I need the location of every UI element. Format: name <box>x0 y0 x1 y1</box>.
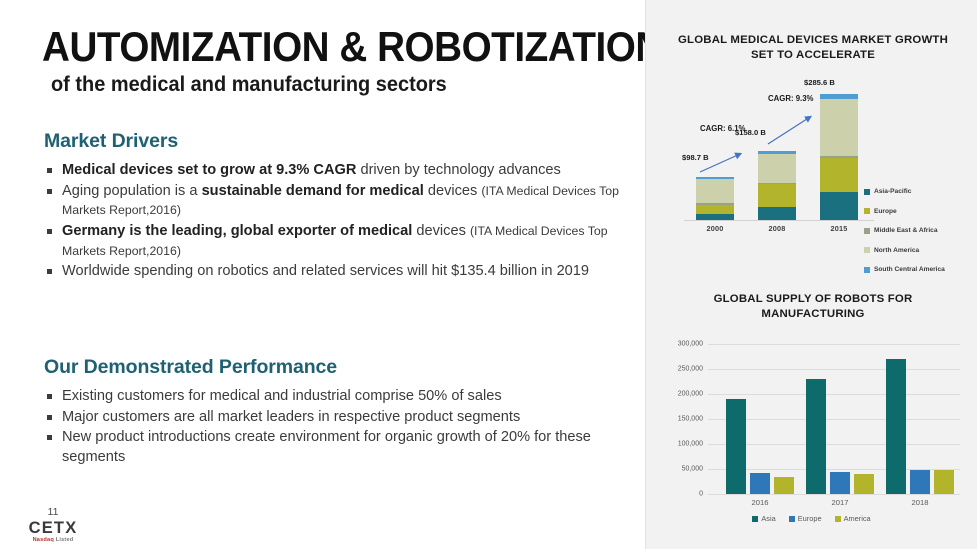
bar-america <box>854 474 874 494</box>
logo-subtitle: Nasdaq Listed <box>8 537 98 543</box>
legend-swatch <box>864 208 870 214</box>
legend-item: Asia <box>752 514 775 523</box>
bar-europe <box>830 472 850 495</box>
chart2-gridline: 0 <box>708 494 960 495</box>
legend-item: North America <box>864 247 976 254</box>
chart1-legend: Asia-PacificEuropeMiddle East & AfricaNo… <box>864 188 976 286</box>
legend-label: America <box>844 514 871 523</box>
chart-robot-supply: 050,000100,000150,000200,000250,000300,0… <box>646 336 977 536</box>
bullet-bold-lead: Medical devices set to grow at 9.3% CAGR <box>62 162 356 178</box>
list-item: New product introductions create environ… <box>44 428 624 467</box>
bullet-text: Existing customers for medical and indus… <box>62 388 502 404</box>
legend-label: Europe <box>874 208 897 215</box>
company-logo: CETX <box>8 519 98 538</box>
logo-subtitle-listed: Listed <box>54 537 73 543</box>
chart2-y-tick: 150,000 <box>678 416 703 423</box>
legend-swatch <box>789 516 795 522</box>
legend-label: Middle East & Africa <box>874 227 938 234</box>
bullet-text: devices <box>424 183 482 199</box>
list-item: Medical devices set to grow at 9.3% CAGR… <box>44 161 624 181</box>
chart2-x-label: 2016 <box>720 498 800 507</box>
bullet-text: Major customers are all market leaders i… <box>62 409 520 425</box>
legend-swatch <box>864 228 870 234</box>
legend-label: North America <box>874 247 919 254</box>
bullet-list-performance: Existing customers for medical and indus… <box>44 387 624 468</box>
bar-asia <box>886 359 906 494</box>
logo-subtitle-nasdaq: Nasdaq <box>33 537 54 543</box>
list-item: Aging population is a sustainable demand… <box>44 182 624 221</box>
bar-europe <box>910 470 930 494</box>
page-title: AUTOMIZATION & ROBOTIZATION <box>42 26 594 68</box>
bar-group <box>886 344 954 494</box>
bar-asia <box>726 399 746 494</box>
legend-item: America <box>835 514 871 523</box>
bar-group <box>806 344 874 494</box>
legend-swatch <box>864 267 870 273</box>
bar-asia <box>806 379 826 494</box>
bullet-text: driven by technology advances <box>356 162 560 178</box>
list-item: Major customers are all market leaders i… <box>44 408 624 428</box>
bar-america <box>774 477 794 495</box>
chart1-value-label: $285.6 B <box>804 78 835 87</box>
bar-europe <box>750 473 770 494</box>
chart2-y-tick: 0 <box>699 491 703 498</box>
section-demonstrated-performance: Our Demonstrated Performance Existing cu… <box>44 356 624 469</box>
page-subtitle: of the medical and manufacturing sectors <box>51 73 612 97</box>
section-market-drivers: Market Drivers Medical devices set to gr… <box>44 130 624 283</box>
legend-label: Europe <box>798 514 822 523</box>
chart2-legend: AsiaEuropeAmerica <box>646 514 977 523</box>
left-content-panel: AUTOMIZATION & ROBOTIZATION of the medic… <box>0 0 645 549</box>
title-block: AUTOMIZATION & ROBOTIZATION of the medic… <box>42 26 642 97</box>
chart-title-robot-supply: GLOBAL SUPPLY OF ROBOTS FOR MANUFACTURIN… <box>668 292 958 321</box>
bullet-list-market-drivers: Medical devices set to grow at 9.3% CAGR… <box>44 161 624 282</box>
chart2-y-tick: 200,000 <box>678 391 703 398</box>
chart1-growth-arrows <box>684 88 884 228</box>
legend-label: Asia <box>761 514 775 523</box>
bullet-text: New product introductions create environ… <box>62 429 591 465</box>
legend-label: South Central America <box>874 266 945 273</box>
slide: AUTOMIZATION & ROBOTIZATION of the medic… <box>0 0 977 549</box>
bullet-bold-mid: sustainable demand for medical <box>202 183 424 199</box>
right-charts-panel: GLOBAL MEDICAL DEVICES MARKET GROWTH SET… <box>646 0 977 549</box>
section-heading-market-drivers: Market Drivers <box>44 130 624 153</box>
bullet-bold-lead: Germany is the leading, global exporter … <box>62 223 412 239</box>
legend-item: Middle East & Africa <box>864 227 976 234</box>
chart2-x-label: 2017 <box>800 498 880 507</box>
bar-america <box>934 470 954 495</box>
legend-swatch <box>864 247 870 253</box>
legend-label: Asia-Pacific <box>874 188 911 195</box>
section-heading-performance: Our Demonstrated Performance <box>44 356 624 379</box>
list-item: Worldwide spending on robotics and relat… <box>44 262 624 282</box>
legend-item: South Central America <box>864 266 976 273</box>
chart2-plot-area: 050,000100,000150,000200,000250,000300,0… <box>708 344 960 494</box>
chart2-y-tick: 100,000 <box>678 441 703 448</box>
chart2-x-label: 2018 <box>880 498 960 507</box>
list-item: Existing customers for medical and indus… <box>44 387 624 407</box>
chart-medical-devices-market: 2000$98.7 B2008$158.0 B2015$285.6 BCAGR:… <box>646 88 977 248</box>
footer-logo-block: 11 CETX Nasdaq Listed <box>8 506 98 543</box>
chart-title-medical-devices: GLOBAL MEDICAL DEVICES MARKET GROWTH SET… <box>668 33 958 62</box>
chart2-y-tick: 250,000 <box>678 366 703 373</box>
bullet-text: Worldwide spending on robotics and relat… <box>62 263 589 279</box>
chart2-y-tick: 50,000 <box>682 466 703 473</box>
legend-item: Asia-Pacific <box>864 188 976 195</box>
legend-swatch <box>835 516 841 522</box>
chart2-y-tick: 300,000 <box>678 341 703 348</box>
page-number: 11 <box>8 506 98 518</box>
legend-item: Europe <box>864 208 976 215</box>
legend-swatch <box>864 189 870 195</box>
bullet-text-pre: Aging population is a <box>62 183 202 199</box>
bullet-text: devices <box>412 223 470 239</box>
legend-swatch <box>752 516 758 522</box>
list-item: Germany is the leading, global exporter … <box>44 222 624 261</box>
legend-item: Europe <box>789 514 822 523</box>
bar-group <box>726 344 794 494</box>
